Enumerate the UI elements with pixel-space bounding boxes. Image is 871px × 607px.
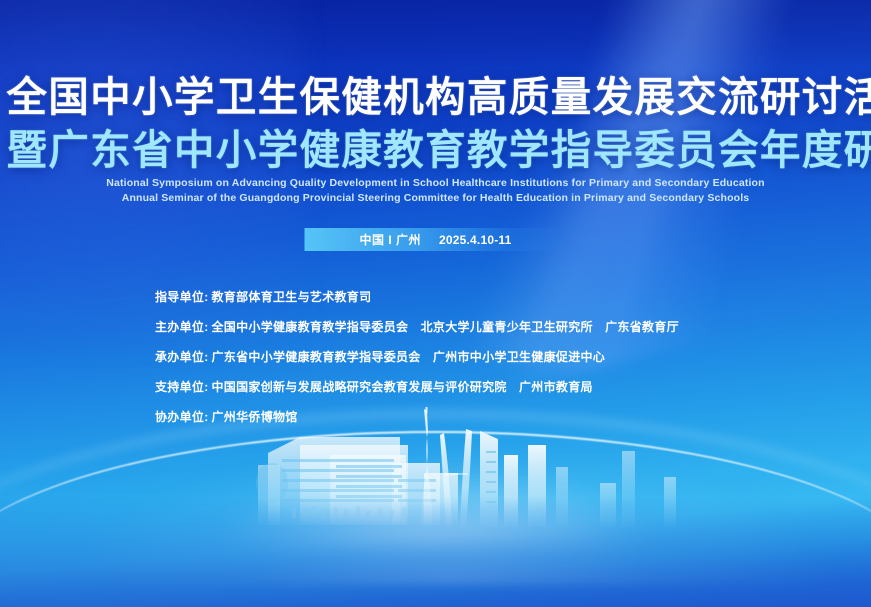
mid-tower-b (528, 445, 546, 527)
location-date-badge: 中国 I 广州 2025.4.10-11 (304, 228, 567, 251)
organization-row: 协办单位: 广州华侨博物馆 (155, 408, 679, 425)
poster-title-primary: 全国中小学卫生保健机构高质量发展交流研讨活动 (7, 72, 865, 122)
poster-subtitle-block: National Symposium on Advancing Quality … (0, 176, 871, 206)
organization-list: 指导单位: 教育部体育卫生与艺术教育司 主办单位: 全国中小学健康教育教学指导委… (155, 288, 679, 438)
right-tower-far (664, 477, 676, 527)
organization-row: 支持单位: 中国国家创新与发展战略研究会教育发展与评价研究院 广州市教育局 (155, 378, 679, 395)
organization-row: 承办单位: 广东省中小学健康教育教学指导委员会 广州市中小学卫生健康促进中心 (155, 348, 679, 365)
stepped-skyscraper (480, 431, 498, 527)
poster-subtitle-line-2: Annual Seminar of the Guangdong Provinci… (0, 191, 871, 206)
organization-label: 主办单位: (155, 318, 209, 335)
organization-label: 承办单位: (155, 348, 209, 365)
badge-location: 中国 I 广州 (360, 231, 422, 248)
poster-subtitle-line-1: National Symposium on Advancing Quality … (0, 176, 871, 191)
organization-row: 指导单位: 教育部体育卫生与艺术教育司 (155, 288, 679, 305)
organization-value: 全国中小学健康教育教学指导委员会 北京大学儿童青少年卫生研究所 广东省教育厅 (212, 318, 679, 335)
top-vignette (0, 0, 871, 70)
right-tower-short (600, 483, 616, 527)
poster-title-block: 全国中小学卫生保健机构高质量发展交流研讨活动 暨广东省中小学健康教育教学指导委员… (0, 72, 871, 175)
poster-title-secondary: 暨广东省中小学健康教育教学指导委员会年度研讨活动 (7, 125, 865, 175)
badge-date: 2025.4.10-11 (439, 233, 511, 247)
organization-row: 主办单位: 全国中小学健康教育教学指导委员会 北京大学儿童青少年卫生研究所 广东… (155, 318, 679, 335)
organization-label: 指导单位: (155, 288, 209, 305)
organization-value: 教育部体育卫生与艺术教育司 (212, 288, 372, 305)
mid-tower-a (504, 455, 518, 527)
organization-value: 广东省中小学健康教育教学指导委员会 广州市中小学卫生健康促进中心 (212, 348, 606, 365)
organization-value: 中国国家创新与发展战略研究会教育发展与评价研究院 广州市教育局 (212, 378, 593, 395)
organization-label: 协办单位: (155, 408, 209, 425)
organization-label: 支持单位: (155, 378, 209, 395)
conference-poster: 全国中小学卫生保健机构高质量发展交流研讨活动 暨广东省中小学健康教育教学指导委员… (0, 0, 871, 607)
right-tower-tall (622, 451, 635, 527)
mid-tower-c (556, 467, 568, 527)
organization-value: 广州华侨博物馆 (212, 408, 298, 425)
